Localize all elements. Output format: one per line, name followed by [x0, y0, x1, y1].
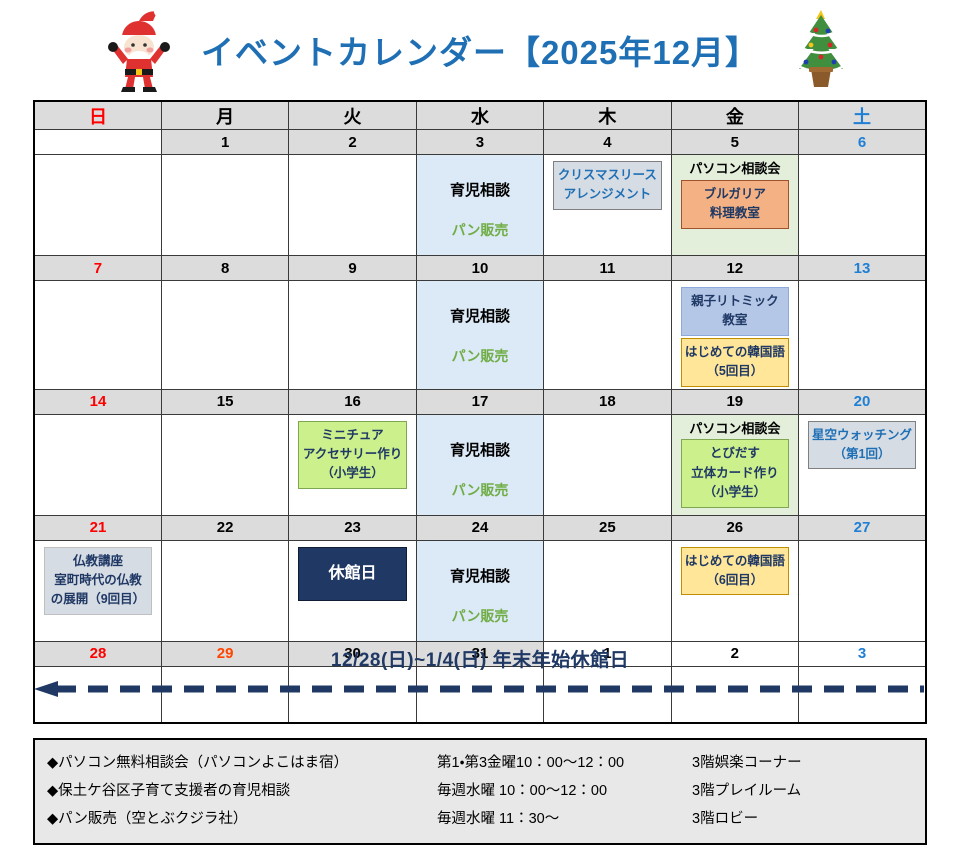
day-cell-19[interactable]: パソコン相談会とびだす立体カード作り（小学生） [671, 414, 798, 515]
day-cell-content: 育児相談パン販売 [417, 281, 543, 366]
legend-name: ◆パソコン無料相談会（パソコンよこはま宿） [47, 749, 437, 777]
day-cell-content: ミニチュアアクセサリー作り（小学生） [289, 415, 415, 489]
event-box[interactable]: ブルガリア料理教室 [681, 180, 789, 229]
date-number-19[interactable]: 19 [671, 389, 798, 414]
date-number-26[interactable]: 26 [671, 515, 798, 540]
date-number-18[interactable]: 18 [544, 389, 671, 414]
christmas-tree-icon [785, 7, 857, 93]
date-cell-empty[interactable] [34, 130, 161, 155]
day-cell-content [544, 415, 670, 421]
page-title: イベントカレンダー【2025年12月】 [201, 26, 759, 74]
date-number-9[interactable]: 9 [289, 256, 416, 281]
childcare-consultation-label: 育児相談 [422, 179, 538, 200]
event-box[interactable]: 親子リトミック教室 [681, 287, 789, 336]
day-cell-content: パソコン相談会ブルガリア料理教室 [672, 155, 798, 229]
event-box-line: （5回目） [684, 362, 786, 381]
day-cell-content [799, 155, 925, 161]
bread-sale-label: パン販売 [422, 480, 538, 500]
legend-time: 毎週水曜 11：30～ [437, 805, 692, 833]
event-box-line: アクセサリー作り [301, 445, 403, 464]
childcare-consultation-label: 育児相談 [422, 565, 538, 586]
date-number-2[interactable]: 2 [289, 130, 416, 155]
event-box-line: （小学生） [301, 464, 403, 483]
event-box-line: ブルガリア [684, 185, 786, 204]
childcare-consultation-label: 育児相談 [422, 305, 538, 326]
legend-place: 3階娯楽コーナー [692, 749, 913, 777]
closing-period-arrow-icon [34, 681, 924, 697]
event-box[interactable]: ミニチュアアクセサリー作り（小学生） [298, 421, 406, 489]
legend-place: 3階プレイルーム [692, 777, 913, 805]
date-number-27[interactable]: 27 [799, 515, 926, 540]
date-number-20[interactable]: 20 [799, 389, 926, 414]
bread-sale-label: パン販売 [422, 220, 538, 240]
day-cell-content [162, 415, 288, 421]
day-cell-23[interactable]: 休館日 [289, 540, 416, 641]
day-cell-content [289, 281, 415, 287]
event-box-line: 親子リトミック [684, 292, 786, 311]
day-cell-content [289, 155, 415, 161]
day-cell-1[interactable] [161, 155, 288, 256]
event-box[interactable]: はじめての韓国語（5回目） [681, 338, 789, 387]
date-number-13[interactable]: 13 [799, 256, 926, 281]
date-number-14[interactable]: 14 [34, 389, 161, 414]
event-box-line: クリスマスリース [556, 166, 658, 185]
dow-sat: 土 [799, 101, 926, 130]
day-cell-content [35, 281, 161, 287]
event-box[interactable]: クリスマスリースアレンジメント [553, 161, 661, 210]
legend-time: 第1・第3金曜10：00～12：00 [437, 749, 692, 777]
date-number-22[interactable]: 22 [161, 515, 288, 540]
week-number-row: 123456 [34, 130, 926, 155]
legend-place: 3階ロビー [692, 805, 913, 833]
day-cell-content [162, 155, 288, 161]
day-cell-3[interactable]: 育児相談パン販売 [416, 155, 543, 256]
day-cell-21[interactable]: 仏教講座室町時代の仏教の展開（9回目） [34, 540, 161, 641]
date-number-17[interactable]: 17 [416, 389, 543, 414]
legend-box: ◆パソコン無料相談会（パソコンよこはま宿） 第1・第3金曜10：00～12：00… [33, 738, 927, 845]
day-cell-content: 仏教講座室町時代の仏教の展開（9回目） [35, 541, 161, 615]
event-box-line: の展開（9回目） [47, 590, 149, 609]
date-number-23[interactable]: 23 [289, 515, 416, 540]
date-number-25[interactable]: 25 [544, 515, 671, 540]
day-cell-2[interactable] [289, 155, 416, 256]
day-cell-18[interactable] [544, 414, 671, 515]
calendar-container: 日 月 火 水 木 金 土 123456育児相談パン販売クリスマスリースアレンジ… [0, 100, 960, 724]
day-cell-20[interactable]: 星空ウォッチング（第1回） [799, 414, 926, 515]
day-cell-8[interactable] [161, 281, 288, 390]
page-header: イベントカレンダー【2025年12月】 [0, 0, 960, 100]
dow-wed: 水 [416, 101, 543, 130]
legend-time: 毎週水曜 10：00～12：00 [437, 777, 692, 805]
event-box-line: 仏教講座 [47, 552, 149, 571]
event-box-line: 教室 [684, 311, 786, 330]
event-box-line: 室町時代の仏教 [47, 571, 149, 590]
event-box-line: 料理教室 [684, 204, 786, 223]
date-number-16[interactable]: 16 [289, 389, 416, 414]
day-cell-17[interactable]: 育児相談パン販売 [416, 414, 543, 515]
santa-icon [103, 7, 175, 93]
legend-row: ◆パソコン無料相談会（パソコンよこはま宿） 第1・第3金曜10：00～12：00… [47, 749, 913, 777]
legend-name: ◆保土ケ谷区子育て支援者の育児相談 [47, 777, 437, 805]
week-number-row: 21222324252627 [34, 515, 926, 540]
day-cell-9[interactable] [289, 281, 416, 390]
day-cell-26[interactable]: はじめての韓国語（6回目） [671, 540, 798, 641]
day-cell-content: 育児相談パン販売 [417, 155, 543, 240]
date-number-3[interactable]: 3 [416, 130, 543, 155]
day-cell-content: はじめての韓国語（6回目） [672, 541, 798, 596]
date-number-1[interactable]: 1 [161, 130, 288, 155]
day-cell-11[interactable] [544, 281, 671, 390]
day-cell-22[interactable] [161, 540, 288, 641]
week-event-row: 育児相談パン販売クリスマスリースアレンジメントパソコン相談会ブルガリア料理教室 [34, 155, 926, 256]
dow-sun: 日 [34, 101, 161, 130]
event-box-line: 立体カード作り [684, 464, 786, 483]
week-event-row: ミニチュアアクセサリー作り（小学生）育児相談パン販売パソコン相談会とびだす立体カ… [34, 414, 926, 515]
day-cell-16[interactable]: ミニチュアアクセサリー作り（小学生） [289, 414, 416, 515]
day-cell-12[interactable]: 親子リトミック教室はじめての韓国語（5回目） [671, 281, 798, 390]
day-cell-24[interactable]: 育児相談パン販売 [416, 540, 543, 641]
dow-thu: 木 [544, 101, 671, 130]
dow-fri: 金 [671, 101, 798, 130]
date-number-12[interactable]: 12 [671, 256, 798, 281]
event-box-line: （小学生） [684, 483, 786, 502]
week-event-row: 仏教講座室町時代の仏教の展開（9回目）休館日育児相談パン販売はじめての韓国語（6… [34, 540, 926, 641]
event-box-line: （6回目） [684, 571, 786, 590]
bread-sale-label: パン販売 [422, 606, 538, 626]
day-cell-content: 星空ウォッチング（第1回） [799, 415, 925, 470]
dow-mon: 月 [161, 101, 288, 130]
day-cell-10[interactable]: 育児相談パン販売 [416, 281, 543, 390]
date-number-21[interactable]: 21 [34, 515, 161, 540]
date-number-11[interactable]: 11 [544, 256, 671, 281]
day-cell-27[interactable] [799, 540, 926, 641]
event-box-line: とびだす [684, 444, 786, 463]
legend-row: ◆パン販売（空とぶクジラ社） 毎週水曜 11：30～ 3階ロビー [47, 805, 913, 833]
date-number-8[interactable]: 8 [161, 256, 288, 281]
legend-name: ◆パン販売（空とぶクジラ社） [47, 805, 437, 833]
day-cell-content: 休館日 [289, 541, 415, 602]
day-cell-content [162, 541, 288, 547]
event-box[interactable]: 星空ウォッチング（第1回） [808, 421, 916, 470]
event-box[interactable]: 仏教講座室町時代の仏教の展開（9回目） [44, 547, 152, 615]
bread-sale-label: パン販売 [422, 346, 538, 366]
day-cell-content: クリスマスリースアレンジメント [544, 155, 670, 210]
closing-note-text: 12/28(日)~1/4(日) 年末年始休館日 [0, 645, 960, 672]
date-number-10[interactable]: 10 [416, 256, 543, 281]
day-cell-content [162, 281, 288, 287]
day-cell-content [35, 155, 161, 161]
day-cell-content: 親子リトミック教室はじめての韓国語（5回目） [672, 281, 798, 387]
legend-row: ◆保土ケ谷区子育て支援者の育児相談 毎週水曜 10：00～12：00 3階プレイ… [47, 777, 913, 805]
day-cell-content [544, 281, 670, 287]
date-number-5[interactable]: 5 [671, 130, 798, 155]
event-box[interactable]: 休館日 [298, 547, 406, 602]
day-cell-empty[interactable] [34, 155, 161, 256]
calendar-table: 日 月 火 水 木 金 土 123456育児相談パン販売クリスマスリースアレンジ… [33, 100, 927, 724]
day-cell-4[interactable]: クリスマスリースアレンジメント [544, 155, 671, 256]
date-number-7[interactable]: 7 [34, 256, 161, 281]
day-cell-content: 育児相談パン販売 [417, 541, 543, 626]
week-number-row: 14151617181920 [34, 389, 926, 414]
dow-tue: 火 [289, 101, 416, 130]
event-box-line: （第1回） [811, 445, 913, 464]
pc-consultation-label: パソコン相談会 [677, 421, 793, 438]
pc-consultation-label: パソコン相談会 [677, 161, 793, 178]
day-cell-content [799, 281, 925, 287]
day-cell-content [799, 541, 925, 547]
day-cell-25[interactable] [544, 540, 671, 641]
day-cell-7[interactable] [34, 281, 161, 390]
event-box-line: はじめての韓国語 [684, 343, 786, 362]
week-event-row: 育児相談パン販売親子リトミック教室はじめての韓国語（5回目） [34, 281, 926, 390]
event-box-line: 休館日 [301, 562, 403, 587]
date-number-6[interactable]: 6 [799, 130, 926, 155]
event-box[interactable]: とびだす立体カード作り（小学生） [681, 439, 789, 507]
date-number-15[interactable]: 15 [161, 389, 288, 414]
date-number-4[interactable]: 4 [544, 130, 671, 155]
event-box-line: 星空ウォッチング [811, 426, 913, 445]
event-box-line: はじめての韓国語 [684, 552, 786, 571]
day-cell-5[interactable]: パソコン相談会ブルガリア料理教室 [671, 155, 798, 256]
day-of-week-header: 日 月 火 水 木 金 土 [34, 101, 926, 130]
event-box-line: アレンジメント [556, 185, 658, 204]
day-cell-14[interactable] [34, 414, 161, 515]
day-cell-6[interactable] [799, 155, 926, 256]
day-cell-13[interactable] [799, 281, 926, 390]
day-cell-content: パソコン相談会とびだす立体カード作り（小学生） [672, 415, 798, 508]
event-calendar-page: イベントカレンダー【2025年12月】 日 月 [0, 0, 960, 836]
calendar-body: 123456育児相談パン販売クリスマスリースアレンジメントパソコン相談会ブルガリ… [34, 130, 926, 723]
day-cell-content [35, 415, 161, 421]
childcare-consultation-label: 育児相談 [422, 439, 538, 460]
day-cell-content [544, 541, 670, 547]
event-box[interactable]: はじめての韓国語（6回目） [681, 547, 789, 596]
event-box-line: ミニチュア [301, 426, 403, 445]
day-cell-15[interactable] [161, 414, 288, 515]
week-number-row: 78910111213 [34, 256, 926, 281]
date-number-24[interactable]: 24 [416, 515, 543, 540]
day-cell-content: 育児相談パン販売 [417, 415, 543, 500]
